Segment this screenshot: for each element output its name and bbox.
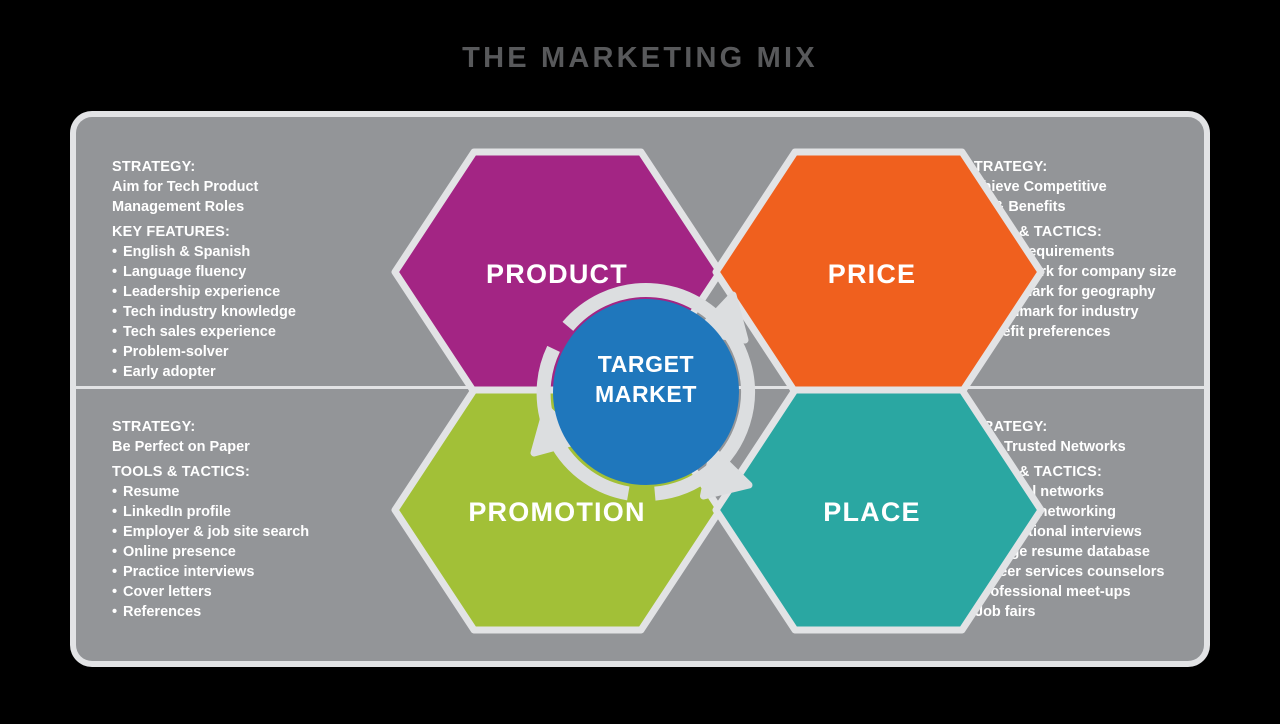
product-item-list: English & Spanish Language fluency Leade… [112,242,442,382]
list-item: LinkedIn profile [112,502,442,522]
list-item: Benchmark for company size [964,262,1204,282]
price-strategy-line1: Achieve Competitive [964,177,1204,197]
list-item: Problem-solver [112,342,442,362]
list-item: Personal networks [964,482,1204,502]
diagram-canvas: THE MARKETING MIX STRATEGY: Aim for Tech… [0,0,1280,724]
marketing-mix-panel: STRATEGY: Aim for Tech Product Managemen… [70,111,1210,667]
hexagon-promotion[interactable] [395,390,720,630]
list-item: Resume [112,482,442,502]
price-item-list: Salary requirements Benchmark for compan… [964,242,1204,342]
list-item: Tech industry knowledge [112,302,442,322]
product-strategy-heading: STRATEGY: [112,157,442,177]
place-list-heading: TOOLS & TACTICS: [964,462,1204,482]
cycle-arrowhead-icon [534,408,580,453]
price-strategy-heading: STRATEGY: [964,157,1204,177]
price-list-heading: TOOLS & TACTICS: [964,222,1204,242]
list-item: Benchmark for geography [964,282,1204,302]
list-item: Online presence [112,542,442,562]
list-item: Professional meet-ups [964,582,1204,602]
list-item: Employer & job site search [112,522,442,542]
ring-arc-3 [568,290,730,334]
place-strategy-line1: Work Trusted Networks [964,437,1204,457]
list-item: References [112,602,442,622]
list-item: Early adopter [112,362,442,382]
quadrant-text-promotion: STRATEGY: Be Perfect on Paper TOOLS & TA… [112,417,442,622]
list-item: Tech sales experience [112,322,442,342]
price-strategy-line2: Pay & Benefits [964,197,1204,217]
list-item: Benchmark for industry [964,302,1204,322]
hexagon-label-product: PRODUCT [486,259,628,289]
hexagon-label-promotion: PROMOTION [468,497,645,527]
product-list-heading: KEY FEATURES: [112,222,442,242]
panel-inner: STRATEGY: Aim for Tech Product Managemen… [76,117,1204,661]
list-item: Language fluency [112,262,442,282]
list-item: Leadership experience [112,282,442,302]
target-market-label: TARGET MARKET [571,349,721,409]
quadrant-text-place: STRATEGY: Work Trusted Networks TOOLS & … [964,417,1204,622]
promotion-strategy-line1: Be Perfect on Paper [112,437,442,457]
cycle-arrowhead-icon [699,295,746,340]
cycle-arrowhead-icon [704,450,750,496]
list-item: Salary requirements [964,242,1204,262]
list-item: LinkedIn networking [964,502,1204,522]
list-item: Benefit preferences [964,322,1204,342]
hexagon-label-place: PLACE [823,497,921,527]
list-item: Career services counselors [964,562,1204,582]
list-item: College resume database [964,542,1204,562]
list-item: Job fairs [964,602,1204,622]
promotion-list-heading: TOOLS & TACTICS: [112,462,442,482]
list-item: English & Spanish [112,242,442,262]
place-strategy-heading: STRATEGY: [964,417,1204,437]
promotion-strategy-heading: STRATEGY: [112,417,442,437]
list-item: Cover letters [112,582,442,602]
hexagon-label-price: PRICE [828,259,917,289]
promotion-item-list: Resume LinkedIn profile Employer & job s… [112,482,442,622]
quadrant-text-price: STRATEGY: Achieve Competitive Pay & Bene… [964,157,1204,342]
quadrant-text-product: STRATEGY: Aim for Tech Product Managemen… [112,157,442,382]
page-title: THE MARKETING MIX [0,42,1280,75]
product-strategy-line2: Management Roles [112,197,442,217]
target-market-line1: TARGET [571,349,721,379]
list-item: Practice interviews [112,562,442,582]
list-item: Informational interviews [964,522,1204,542]
target-market-line2: MARKET [571,379,721,409]
product-strategy-line1: Aim for Tech Product [112,177,442,197]
place-item-list: Personal networks LinkedIn networking In… [964,482,1204,622]
